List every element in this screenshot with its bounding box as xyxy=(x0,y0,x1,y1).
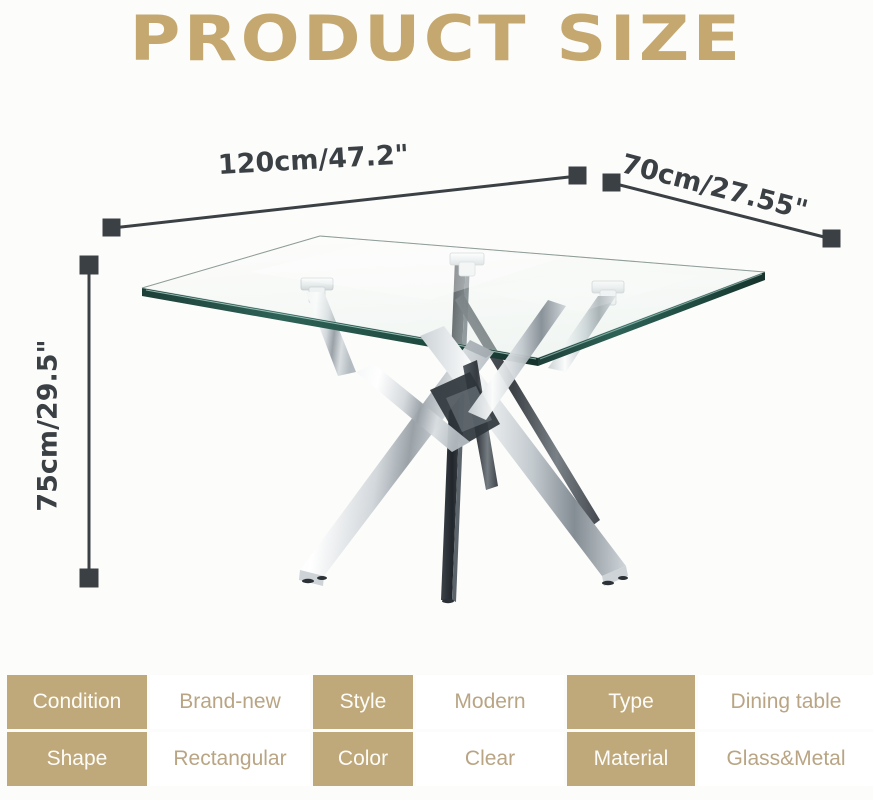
glass-dining-table-illustration xyxy=(0,0,873,670)
spec-key-condition: Condition xyxy=(7,675,147,729)
spec-value-material: Glass&Metal xyxy=(698,732,873,786)
spec-key-type: Type xyxy=(567,675,695,729)
spec-value-shape: Rectangular xyxy=(150,732,310,786)
product-size-infographic: PRODUCT SIZE xyxy=(0,0,873,800)
table-row: Condition Brand-new Style Modern Type Di… xyxy=(7,675,873,729)
spec-value-condition: Brand-new xyxy=(150,675,310,729)
spec-key-shape: Shape xyxy=(7,732,147,786)
height-dimension-label: 75cm/29.5" xyxy=(33,316,64,536)
product-spec-table: Condition Brand-new Style Modern Type Di… xyxy=(4,672,873,789)
table-row: Shape Rectangular Color Clear Material G… xyxy=(7,732,873,786)
spec-value-style: Modern xyxy=(416,675,564,729)
spec-value-color: Clear xyxy=(416,732,564,786)
spec-value-type: Dining table xyxy=(698,675,873,729)
spec-key-color: Color xyxy=(313,732,413,786)
spec-key-style: Style xyxy=(313,675,413,729)
spec-key-material: Material xyxy=(567,732,695,786)
